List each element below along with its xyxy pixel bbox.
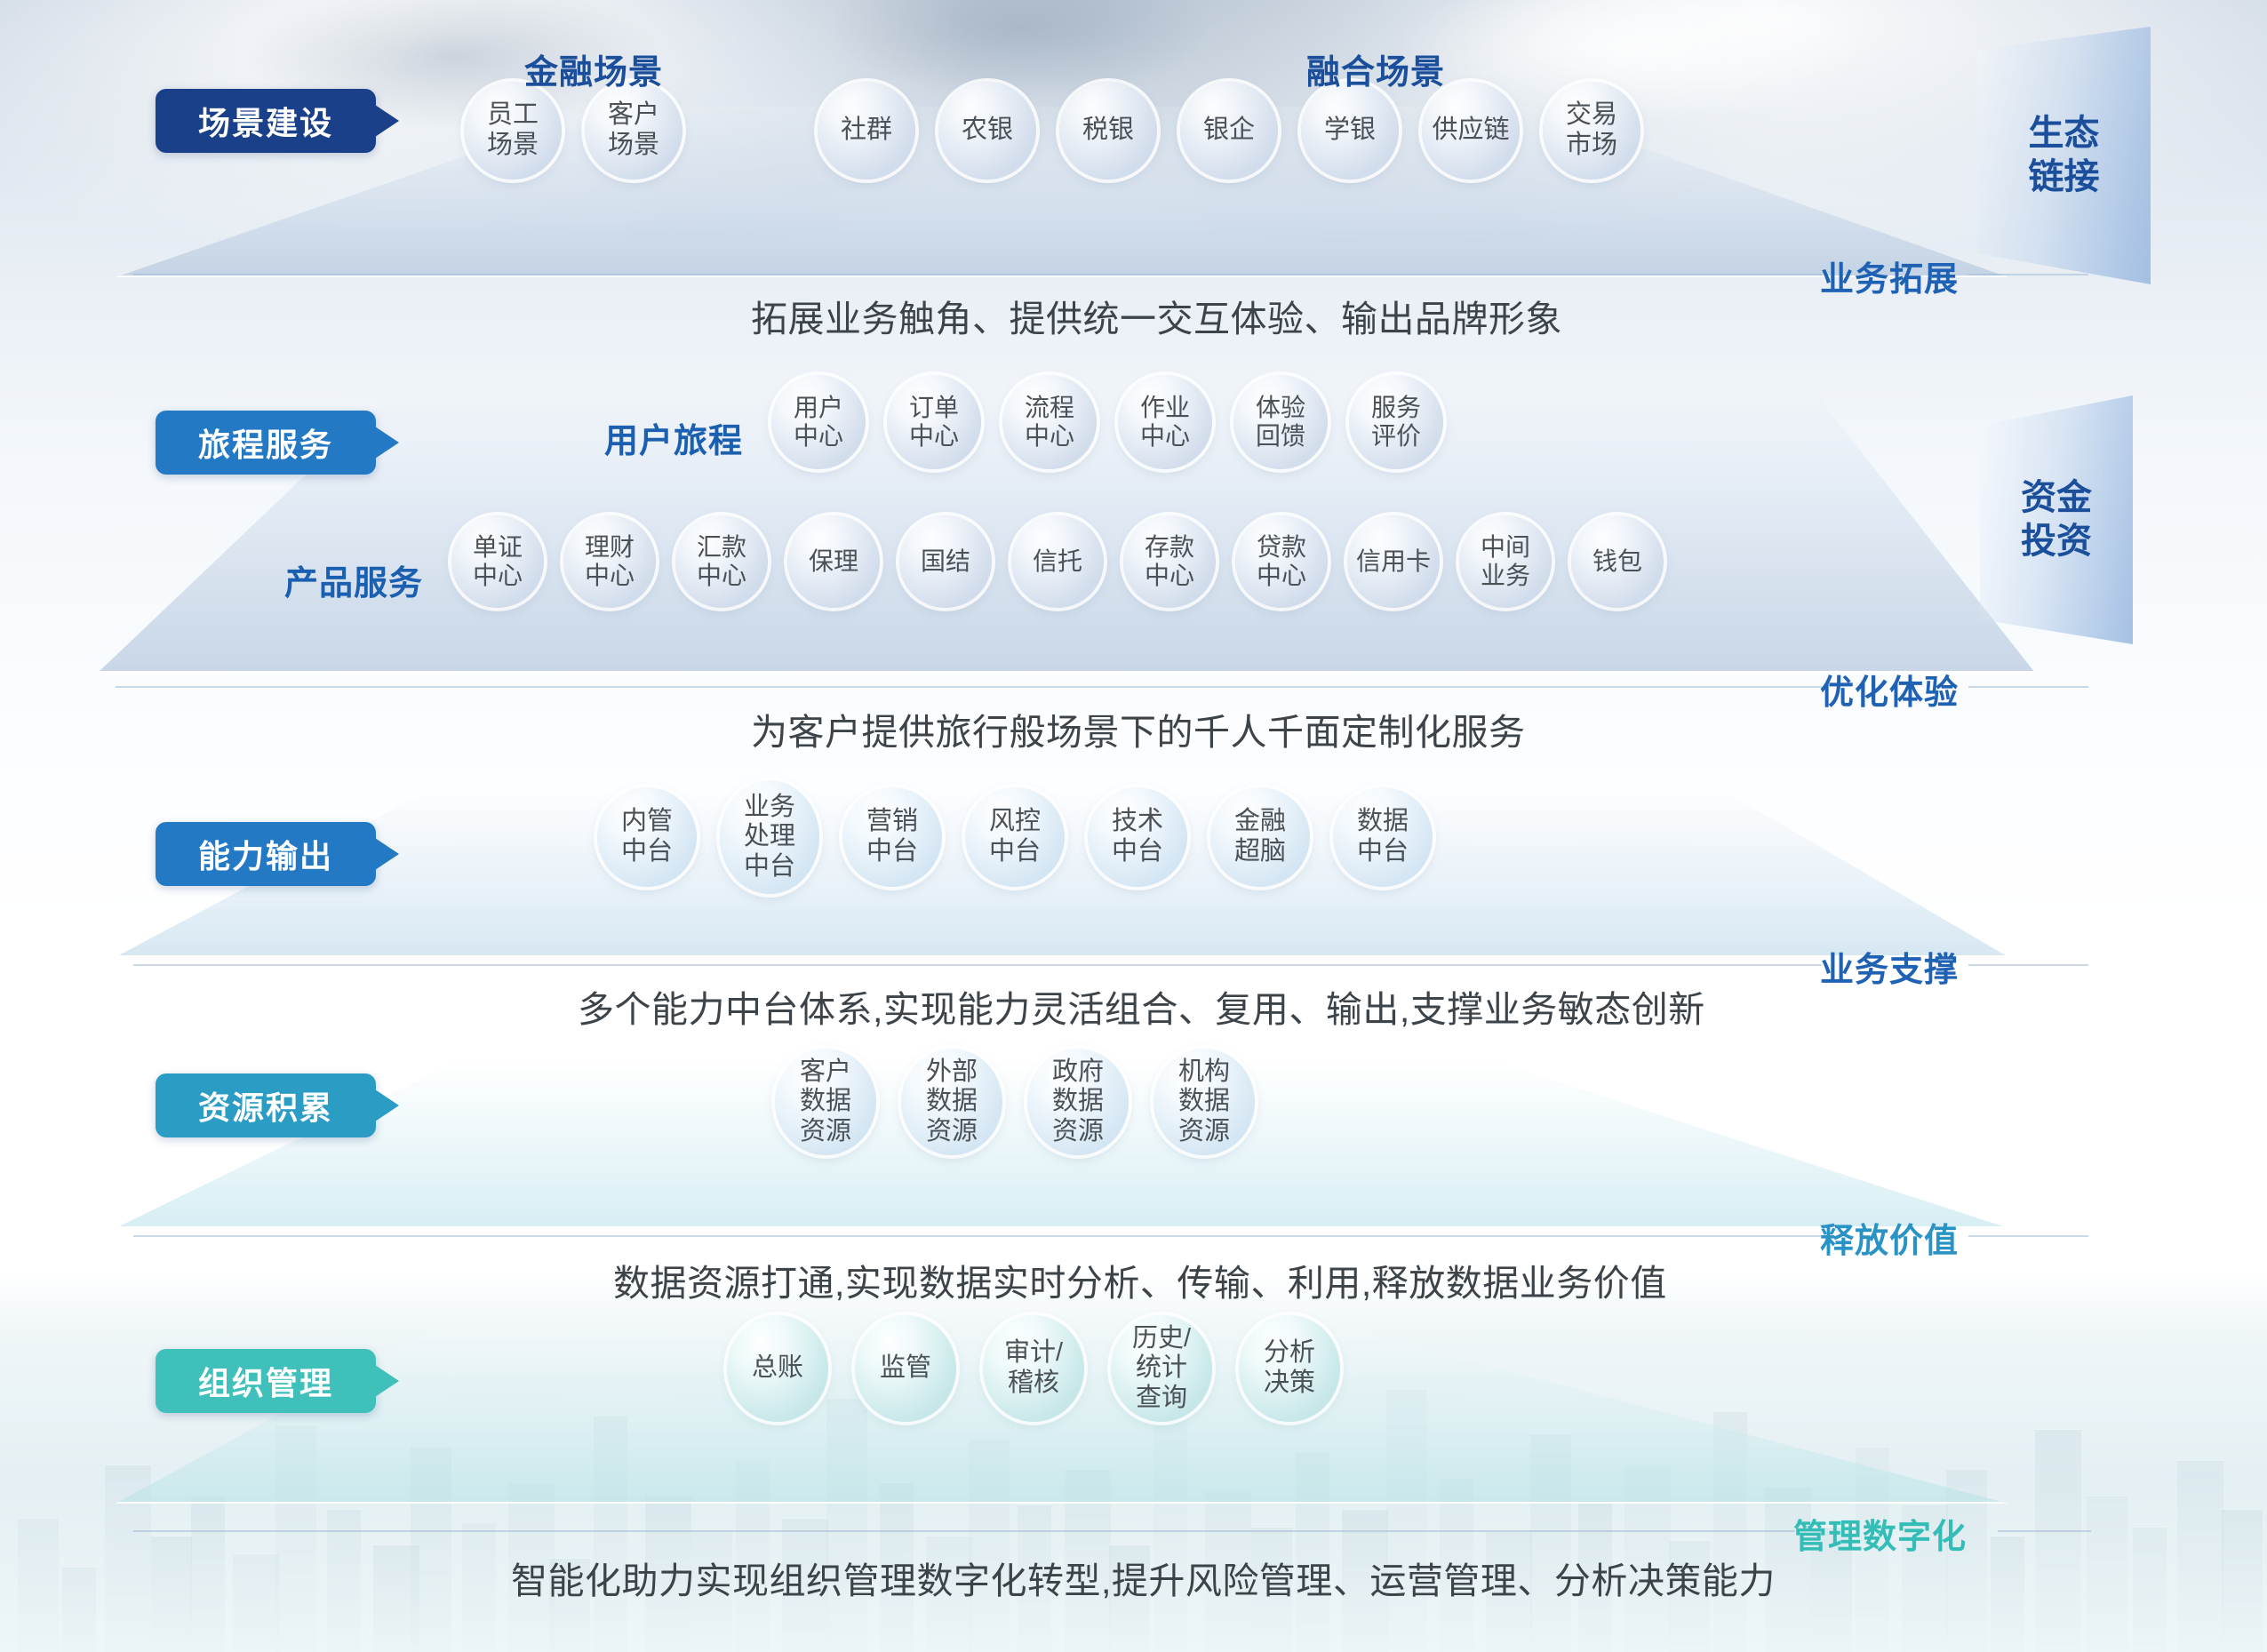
- bubble-label: 中台: [1112, 837, 1163, 867]
- bubble-label: 分析: [1264, 1338, 1315, 1369]
- bubble-label: 中台: [866, 837, 918, 867]
- bubble-label: 业务: [1481, 562, 1530, 590]
- tier3-divider-right: [1968, 964, 2088, 966]
- bubble-label: 钱包: [1592, 547, 1642, 576]
- bubble[interactable]: 内管中台: [597, 787, 697, 887]
- tier5-tag[interactable]: 组织管理: [156, 1349, 376, 1413]
- tier3-keyword: 业务支撑: [1820, 942, 1959, 991]
- tier2-divider: [116, 686, 1822, 688]
- bubble[interactable]: 钱包: [1571, 515, 1664, 608]
- bubble[interactable]: 交易市场: [1543, 82, 1640, 180]
- tier1-ribbon: 生态链接: [1977, 27, 2151, 284]
- bubble[interactable]: 用户中心: [771, 375, 866, 469]
- bubble-label: 超脑: [1234, 837, 1286, 867]
- bubble[interactable]: 银企: [1180, 82, 1278, 180]
- bubble-label: 回馈: [1256, 422, 1305, 451]
- bubble-label: 风控: [989, 807, 1041, 837]
- bubble-label: 外部: [926, 1057, 978, 1088]
- bubble[interactable]: 业务处理中台: [720, 780, 819, 894]
- tier4-divider-right: [1968, 1235, 2088, 1237]
- bubble-label: 税银: [1082, 116, 1134, 146]
- bubble-label: 保理: [809, 547, 858, 576]
- tier1-tag[interactable]: 场景建设: [156, 89, 376, 153]
- bubble-label: 汇款: [697, 533, 746, 562]
- bubble[interactable]: 作业中心: [1118, 375, 1212, 469]
- bubble[interactable]: 中间业务: [1459, 515, 1552, 608]
- tier5-keyword: 管理数字化: [1793, 1509, 1967, 1558]
- tier5-items: 总账监管审计/稽核历史/统计查询分析决策: [727, 1315, 1340, 1422]
- tier1-finance-items: 员工场景客户场景: [464, 82, 682, 180]
- tier1-divider-right: [1968, 274, 2088, 275]
- bubble-label: 稽核: [1008, 1369, 1059, 1399]
- tier3-items: 内管中台业务处理中台营销中台风控中台技术中台金融超脑数据中台: [597, 780, 1433, 894]
- bubble-label: 场景: [487, 131, 539, 161]
- bubble-label: 金融: [1234, 807, 1286, 837]
- bubble-label: 数据: [926, 1087, 978, 1117]
- bubble-label: 数据: [800, 1087, 851, 1117]
- tier2-tag-label: 旅程服务: [198, 419, 333, 466]
- bubble[interactable]: 体验回馈: [1233, 375, 1328, 469]
- bubble-label: 用户: [794, 394, 843, 422]
- bubble[interactable]: 风控中台: [965, 787, 1065, 887]
- bubble[interactable]: 服务评价: [1349, 375, 1443, 469]
- bubble-label: 资源: [800, 1117, 851, 1147]
- bubble-label: 历史/: [1132, 1324, 1191, 1354]
- bubble-label: 供应链: [1432, 116, 1509, 146]
- bubble-label: 服务: [1371, 394, 1421, 422]
- bubble[interactable]: 技术中台: [1088, 787, 1187, 887]
- bubble-label: 审计/: [1004, 1338, 1063, 1369]
- tier1-ribbon-label: 生态链接: [2029, 112, 2100, 199]
- bubble-label: 客户: [800, 1057, 851, 1088]
- bubble[interactable]: 数据中台: [1333, 787, 1433, 887]
- tier1-fusion-items: 社群农银税银银企学银供应链交易市场: [818, 82, 1640, 180]
- tier3-caption: 多个能力中台体系,实现能力灵活组合、复用、输出,支撑业务敏态创新: [578, 979, 1705, 1033]
- bubble-label: 中台: [744, 852, 795, 882]
- bubble-label: 银企: [1203, 116, 1255, 146]
- tier4-items: 客户数据资源外部数据资源政府数据资源机构数据资源: [775, 1049, 1255, 1155]
- bubble-label: 员工: [487, 100, 539, 131]
- bubble[interactable]: 客户场景: [585, 82, 682, 180]
- bubble-label: 农银: [962, 116, 1013, 146]
- bubble[interactable]: 总账: [727, 1315, 828, 1422]
- bubble-label: 市场: [1566, 131, 1617, 161]
- tier1-caption: 拓展业务触角、提供统一交互体验、输出品牌形象: [751, 289, 1562, 342]
- bubble-label: 数据: [1357, 807, 1409, 837]
- bubble-label: 中台: [989, 837, 1041, 867]
- bubble-label: 单证: [473, 533, 523, 562]
- tier2-journey-label: 用户旅程: [604, 413, 743, 462]
- bubble-label: 内管: [621, 807, 673, 837]
- tier5-divider: [133, 1530, 1795, 1532]
- tier5-tag-label: 组织管理: [198, 1358, 333, 1404]
- bubble-label: 决策: [1264, 1369, 1315, 1399]
- bubble[interactable]: 流程中心: [1002, 375, 1097, 469]
- tier2-keyword: 优化体验: [1820, 665, 1959, 714]
- bubble-label: 总账: [752, 1353, 803, 1384]
- bubble-label: 存款: [1145, 533, 1194, 562]
- bubble-label: 理财: [585, 533, 635, 562]
- bubble[interactable]: 存款中心: [1123, 515, 1216, 608]
- tier5-divider-right: [1998, 1530, 2091, 1532]
- bubble-label: 资源: [1178, 1117, 1230, 1147]
- bubble-label: 中心: [909, 422, 959, 451]
- tier2-ribbon-label: 资金投资: [2021, 476, 2092, 563]
- bubble[interactable]: 历史/统计查询: [1111, 1315, 1212, 1422]
- bubble-label: 中心: [585, 562, 635, 590]
- tier4-caption: 数据资源打通,实现数据实时分析、传输、利用,释放数据业务价值: [613, 1253, 1667, 1306]
- bubble-label: 中间: [1481, 533, 1530, 562]
- bubble-label: 订单: [909, 394, 959, 422]
- bubble[interactable]: 税银: [1059, 82, 1157, 180]
- tier4-keyword: 释放价值: [1820, 1213, 1959, 1262]
- tier3-tag-label: 能力输出: [198, 831, 333, 877]
- bubble[interactable]: 金融超脑: [1210, 787, 1310, 887]
- bubble-label: 信托: [1033, 547, 1082, 576]
- bubble-label: 查询: [1136, 1384, 1187, 1414]
- bubble-label: 客户: [608, 100, 659, 131]
- bubble-label: 信用卡: [1356, 547, 1431, 576]
- tier2-divider-right: [1968, 686, 2088, 688]
- tier2-tag[interactable]: 旅程服务: [156, 411, 376, 475]
- bubble-label: 资源: [1052, 1117, 1104, 1147]
- bubble-label: 作业: [1140, 394, 1190, 422]
- bubble-label: 中心: [1140, 422, 1190, 451]
- bubble[interactable]: 机构数据资源: [1153, 1049, 1255, 1155]
- bubble-label: 国结: [921, 547, 970, 576]
- bubble[interactable]: 国结: [899, 515, 992, 608]
- tier5-caption: 智能化助力实现组织管理数字化转型,提升风险管理、运营管理、分析决策能力: [511, 1551, 1776, 1604]
- bubble[interactable]: 供应链: [1422, 82, 1520, 180]
- bubble-label: 学银: [1324, 116, 1376, 146]
- bubble-label: 评价: [1371, 422, 1421, 451]
- tier2-caption: 为客户提供旅行般场景下的千人千面定制化服务: [751, 702, 1526, 755]
- tier3-divider: [133, 964, 1822, 966]
- tier3-tag[interactable]: 能力输出: [156, 822, 376, 886]
- bubble-label: 处理: [744, 822, 795, 852]
- tier2-product-label: 产品服务: [284, 555, 423, 604]
- bubble-label: 机构: [1178, 1057, 1230, 1088]
- bubble-label: 中心: [1257, 562, 1306, 590]
- bubble[interactable]: 订单中心: [887, 375, 981, 469]
- bubble[interactable]: 汇款中心: [675, 515, 768, 608]
- bubble-label: 中台: [1357, 837, 1409, 867]
- bubble-label: 营销: [866, 807, 918, 837]
- bubble-label: 业务: [744, 793, 795, 823]
- tier2-product-items: 单证中心理财中心汇款中心保理国结信托存款中心贷款中心信用卡中间业务钱包: [451, 515, 1664, 608]
- bubble-label: 资源: [926, 1117, 978, 1147]
- bubble[interactable]: 员工场景: [464, 82, 562, 180]
- tier2-journey-items: 用户中心订单中心流程中心作业中心体验回馈服务评价: [771, 375, 1443, 469]
- bubble-label: 中台: [621, 837, 673, 867]
- bubble-label: 场景: [608, 131, 659, 161]
- tier4-divider: [133, 1235, 1822, 1237]
- bubble[interactable]: 保理: [787, 515, 880, 608]
- bubble[interactable]: 客户数据资源: [775, 1049, 876, 1155]
- bubble[interactable]: 农银: [938, 82, 1036, 180]
- bubble-label: 流程: [1025, 394, 1074, 422]
- bubble[interactable]: 信用卡: [1347, 515, 1440, 608]
- bubble[interactable]: 社群: [818, 82, 915, 180]
- bubble[interactable]: 学银: [1301, 82, 1399, 180]
- bubble-label: 交易: [1566, 100, 1617, 131]
- tier1-tag-label: 场景建设: [198, 98, 333, 144]
- bubble-label: 中心: [473, 562, 523, 590]
- bubble-label: 数据: [1178, 1087, 1230, 1117]
- bubble[interactable]: 监管: [855, 1315, 956, 1422]
- tier4-tag-label: 资源积累: [198, 1082, 333, 1129]
- bubble[interactable]: 单证中心: [451, 515, 544, 608]
- tier1-divider: [133, 274, 1822, 275]
- bubble-label: 监管: [880, 1353, 931, 1384]
- bubble-label: 中心: [697, 562, 746, 590]
- bubble-label: 社群: [841, 116, 892, 146]
- bubble-label: 体验: [1256, 394, 1305, 422]
- tier1-finance-group-title: 金融场景: [524, 44, 663, 93]
- bubble[interactable]: 政府数据资源: [1027, 1049, 1129, 1155]
- tier2-ribbon: 资金投资: [1980, 395, 2133, 644]
- bubble-label: 政府: [1052, 1057, 1104, 1088]
- bubble-label: 统计: [1136, 1353, 1187, 1384]
- bubble[interactable]: 外部数据资源: [901, 1049, 1002, 1155]
- bubble[interactable]: 审计/稽核: [983, 1315, 1084, 1422]
- bubble-label: 中心: [1145, 562, 1194, 590]
- bubble-label: 中心: [794, 422, 843, 451]
- bubble[interactable]: 营销中台: [842, 787, 942, 887]
- bubble-label: 数据: [1052, 1087, 1104, 1117]
- tier1-fusion-group-title: 融合场景: [1306, 44, 1445, 93]
- bubble-label: 贷款: [1257, 533, 1306, 562]
- bubble-label: 中心: [1025, 422, 1074, 451]
- bubble[interactable]: 分析决策: [1239, 1315, 1340, 1422]
- bubble[interactable]: 理财中心: [563, 515, 656, 608]
- bubble[interactable]: 信托: [1011, 515, 1104, 608]
- bubble-label: 技术: [1112, 807, 1163, 837]
- tier4-tag[interactable]: 资源积累: [156, 1073, 376, 1137]
- bubble[interactable]: 贷款中心: [1235, 515, 1328, 608]
- tier1-keyword: 业务拓展: [1820, 251, 1959, 300]
